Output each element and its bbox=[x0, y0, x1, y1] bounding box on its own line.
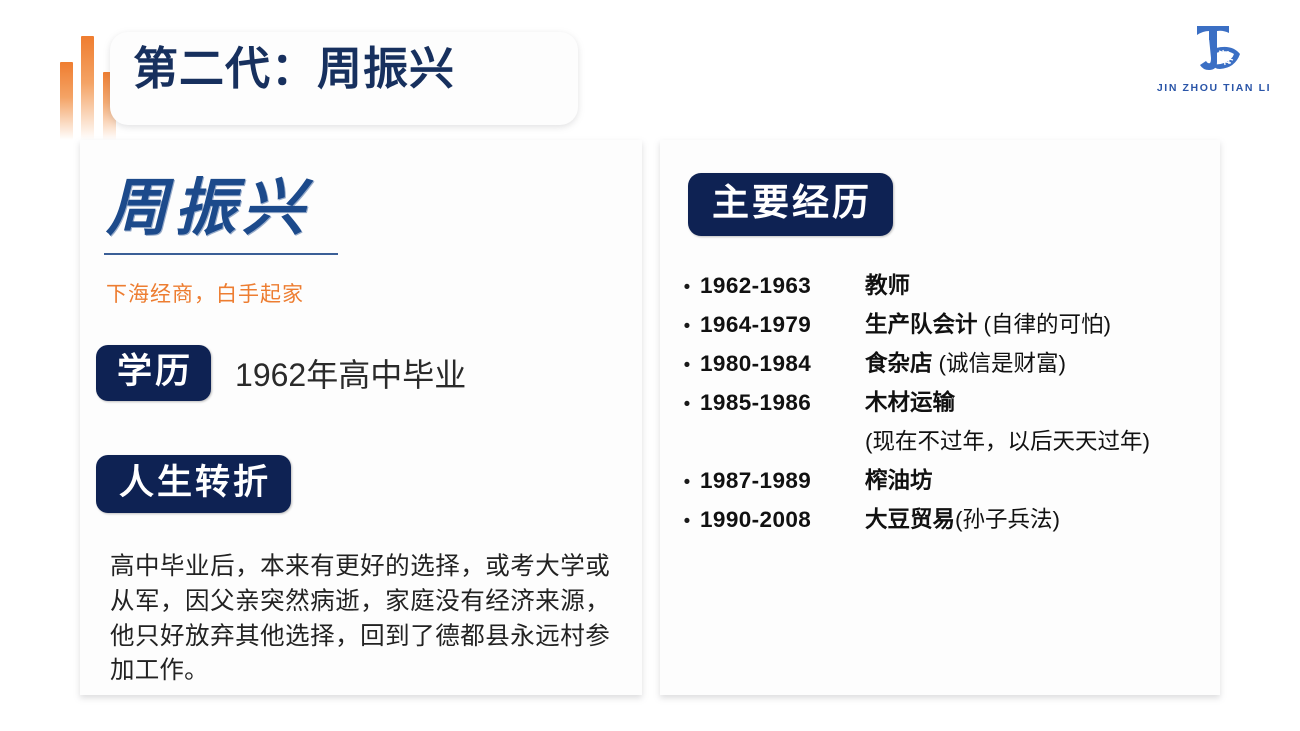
experience-continuation-row: (现在不过年，以后天天过年) bbox=[674, 424, 1214, 456]
logo-wordmark: JIN ZHOU TIAN LI bbox=[1154, 82, 1274, 94]
experience-list: • 1962-1963 教师 • 1964-1979 生产队会计 (自律的可怕)… bbox=[674, 268, 1214, 541]
turning-point-badge-wrap: 人生转折 bbox=[96, 455, 291, 513]
tianli-monogram-icon bbox=[1154, 18, 1274, 80]
bullet-icon: • bbox=[674, 395, 700, 414]
experience-role: 大豆贸易 bbox=[865, 502, 955, 534]
experience-years: 1962-1963 bbox=[700, 273, 865, 299]
experience-note: (孙子兵法) bbox=[955, 502, 1060, 534]
bullet-icon: • bbox=[674, 473, 700, 492]
experience-note: (自律的可怕) bbox=[984, 307, 1112, 339]
experience-years: 1964-1979 bbox=[700, 312, 865, 338]
experience-years: 1980-1984 bbox=[700, 351, 865, 377]
bullet-icon: • bbox=[674, 278, 700, 297]
experience-role: 木材运输 bbox=[865, 385, 955, 417]
experience-years: 1985-1986 bbox=[700, 390, 865, 416]
continuation-indent bbox=[674, 424, 865, 456]
list-item: • 1985-1986 木材运输 bbox=[674, 385, 1214, 417]
experience-card: 主要经历 • 1962-1963 教师 • 1964-1979 生产队会计 (自… bbox=[660, 140, 1220, 695]
experience-badge-wrap: 主要经历 bbox=[688, 173, 893, 236]
experience-role: 生产队会计 bbox=[865, 307, 978, 339]
experience-years: 1990-2008 bbox=[700, 507, 865, 533]
turning-point-badge: 人生转折 bbox=[96, 455, 291, 513]
turning-point-paragraph: 高中毕业后，本来有更好的选择，或考大学或从军，因父亲突然病逝，家庭没有经济来源，… bbox=[110, 550, 610, 689]
experience-continuation: (现在不过年，以后天天过年) bbox=[865, 424, 1150, 456]
list-item: • 1964-1979 生产队会计 (自律的可怕) bbox=[674, 307, 1214, 339]
company-logo: JIN ZHOU TIAN LI bbox=[1154, 18, 1274, 110]
accent-bar-1 bbox=[60, 62, 73, 140]
education-value: 1962年高中毕业 bbox=[235, 350, 466, 396]
slide-header: 第二代：周振兴 JIN ZHOU TIAN LI bbox=[0, 0, 1300, 140]
experience-role: 榨油坊 bbox=[865, 463, 933, 495]
education-row: 学历 1962年高中毕业 bbox=[96, 345, 466, 401]
experience-role: 教师 bbox=[865, 268, 910, 300]
experience-badge: 主要经历 bbox=[688, 173, 893, 236]
list-item: • 1962-1963 教师 bbox=[674, 268, 1214, 300]
education-badge: 学历 bbox=[96, 345, 211, 401]
list-item: • 1987-1989 榨油坊 bbox=[674, 463, 1214, 495]
accent-bar-2 bbox=[81, 36, 94, 140]
profile-card: 周振兴 下海经商，白手起家 学历 1962年高中毕业 人生转折 高中毕业后，本来… bbox=[80, 140, 642, 695]
experience-role: 食杂店 bbox=[865, 346, 933, 378]
bullet-icon: • bbox=[674, 356, 700, 375]
person-tagline: 下海经商，白手起家 bbox=[106, 278, 304, 308]
list-item: • 1990-2008 大豆贸易 (孙子兵法) bbox=[674, 502, 1214, 534]
person-name-calligraphy: 周振兴 bbox=[106, 178, 310, 240]
bullet-icon: • bbox=[674, 512, 700, 531]
name-divider bbox=[104, 253, 338, 255]
page-title: 第二代：周振兴 bbox=[133, 46, 455, 91]
experience-years: 1987-1989 bbox=[700, 468, 865, 494]
list-item: • 1980-1984 食杂店 (诚信是财富) bbox=[674, 346, 1214, 378]
bullet-icon: • bbox=[674, 317, 700, 336]
experience-note: (诚信是财富) bbox=[939, 346, 1067, 378]
